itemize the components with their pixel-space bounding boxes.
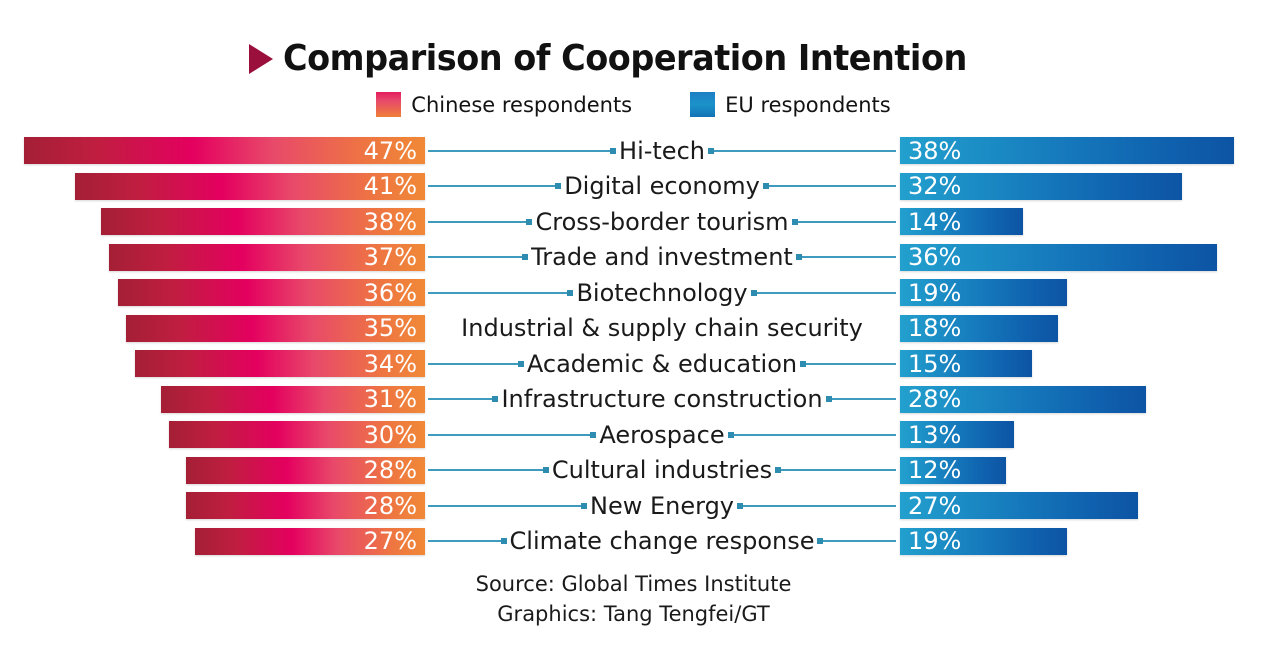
connector-line-left bbox=[428, 256, 528, 258]
chart-legend: Chinese respondents EU respondents bbox=[0, 92, 1267, 117]
bar-value-label-eu: 36% bbox=[908, 245, 961, 269]
bar-value-label-chinese: 41% bbox=[364, 174, 417, 198]
bar-eu-respondents: 18% bbox=[900, 315, 1058, 342]
connector-line-left bbox=[428, 434, 596, 436]
bar-value-label-eu: 14% bbox=[908, 210, 961, 234]
chart-row: 31%Infrastructure construction28% bbox=[0, 382, 1267, 418]
connector-line-right bbox=[817, 540, 896, 542]
connector-line-right bbox=[826, 398, 896, 400]
bar-value-label-chinese: 34% bbox=[364, 352, 417, 376]
connector-line-right bbox=[751, 292, 896, 294]
bar-value-label-eu: 13% bbox=[908, 423, 961, 447]
category-band: Trade and investment bbox=[428, 240, 896, 276]
bar-chinese-respondents: 37% bbox=[109, 244, 425, 271]
connector-line-left bbox=[428, 505, 587, 507]
bar-eu-respondents: 14% bbox=[900, 208, 1023, 235]
category-label: Hi-tech bbox=[616, 139, 708, 163]
bar-chinese-respondents: 34% bbox=[135, 350, 425, 377]
bar-chinese-respondents: 36% bbox=[118, 279, 425, 306]
chart-row: 37%Trade and investment36% bbox=[0, 240, 1267, 276]
category-band: Industrial & supply chain security bbox=[428, 311, 896, 347]
bar-value-label-chinese: 38% bbox=[364, 210, 417, 234]
bar-eu-respondents: 15% bbox=[900, 350, 1032, 377]
bar-eu-respondents: 19% bbox=[900, 279, 1067, 306]
connector-line-right bbox=[708, 150, 896, 152]
bar-chinese-respondents: 28% bbox=[186, 457, 425, 484]
bar-value-label-eu: 32% bbox=[908, 174, 961, 198]
bar-value-label-chinese: 36% bbox=[364, 281, 417, 305]
connector-line-right bbox=[728, 434, 896, 436]
connector-line-right bbox=[775, 469, 896, 471]
category-label: Biotechnology bbox=[573, 281, 750, 305]
bar-chinese-respondents: 35% bbox=[126, 315, 425, 342]
graphics-credit: Graphics: Tang Tengfei/GT bbox=[0, 599, 1267, 629]
bar-eu-respondents: 27% bbox=[900, 492, 1138, 519]
category-band: Biotechnology bbox=[428, 275, 896, 311]
connector-line-left bbox=[428, 398, 498, 400]
connector-line-left bbox=[428, 469, 549, 471]
infographic-canvas: Comparison of Cooperation Intention Chin… bbox=[0, 0, 1267, 662]
category-band: Hi-tech bbox=[428, 133, 896, 169]
bar-value-label-chinese: 35% bbox=[364, 316, 417, 340]
chart-row: 28%Cultural industries12% bbox=[0, 453, 1267, 489]
bar-value-label-chinese: 31% bbox=[364, 387, 417, 411]
chart-row: 35%Industrial & supply chain security18% bbox=[0, 311, 1267, 347]
bar-eu-respondents: 28% bbox=[900, 386, 1146, 413]
connector-line-left bbox=[428, 540, 507, 542]
chart-row: 34%Academic & education15% bbox=[0, 346, 1267, 382]
source-credit: Source: Global Times Institute bbox=[0, 569, 1267, 599]
page-title: Comparison of Cooperation Intention bbox=[283, 38, 967, 79]
bar-chinese-respondents: 30% bbox=[169, 421, 425, 448]
legend-label-chinese: Chinese respondents bbox=[411, 93, 632, 117]
category-label: Industrial & supply chain security bbox=[458, 316, 866, 340]
bar-eu-respondents: 36% bbox=[900, 244, 1217, 271]
bar-value-label-eu: 15% bbox=[908, 352, 961, 376]
connector-line-right bbox=[796, 256, 896, 258]
bar-chinese-respondents: 28% bbox=[186, 492, 425, 519]
legend-swatch-chinese bbox=[376, 92, 401, 117]
bar-eu-respondents: 19% bbox=[900, 528, 1067, 555]
connector-line-left bbox=[428, 292, 573, 294]
bar-value-label-eu: 38% bbox=[908, 139, 961, 163]
category-band: Cross-border tourism bbox=[428, 204, 896, 240]
bar-value-label-eu: 19% bbox=[908, 281, 961, 305]
chart-footer: Source: Global Times Institute Graphics:… bbox=[0, 569, 1267, 630]
chart-row: 41%Digital economy32% bbox=[0, 169, 1267, 205]
connector-line-left bbox=[428, 363, 524, 365]
bar-value-label-chinese: 27% bbox=[364, 529, 417, 553]
connector-line-left bbox=[428, 221, 532, 223]
category-band: Digital economy bbox=[428, 169, 896, 205]
bar-value-label-eu: 12% bbox=[908, 458, 961, 482]
legend-swatch-eu bbox=[690, 92, 715, 117]
bar-chinese-respondents: 41% bbox=[75, 173, 425, 200]
category-label: Cultural industries bbox=[549, 458, 775, 482]
bar-value-label-eu: 19% bbox=[908, 529, 961, 553]
legend-item-chinese-respondents: Chinese respondents bbox=[376, 92, 632, 117]
connector-line-right bbox=[763, 185, 896, 187]
bar-chinese-respondents: 31% bbox=[161, 386, 425, 413]
bar-value-label-chinese: 30% bbox=[364, 423, 417, 447]
chart-row: 30%Aerospace13% bbox=[0, 417, 1267, 453]
connector-line-left bbox=[428, 150, 616, 152]
connector-line-right bbox=[737, 505, 896, 507]
category-label: New Energy bbox=[587, 494, 737, 518]
category-label: Academic & education bbox=[524, 352, 800, 376]
legend-item-eu-respondents: EU respondents bbox=[690, 92, 891, 117]
category-label: Digital economy bbox=[561, 174, 763, 198]
category-label: Aerospace bbox=[596, 423, 727, 447]
category-band: New Energy bbox=[428, 488, 896, 524]
bar-value-label-eu: 18% bbox=[908, 316, 961, 340]
bar-eu-respondents: 32% bbox=[900, 173, 1182, 200]
category-band: Academic & education bbox=[428, 346, 896, 382]
bar-chinese-respondents: 27% bbox=[195, 528, 425, 555]
chart-row: 28%New Energy27% bbox=[0, 488, 1267, 524]
chart-rows: 47%Hi-tech38%41%Digital economy32%38%Cro… bbox=[0, 133, 1267, 559]
category-band: Infrastructure construction bbox=[428, 382, 896, 418]
connector-line-left bbox=[428, 185, 561, 187]
connector-line-right bbox=[792, 221, 896, 223]
triangle-right-icon bbox=[249, 44, 273, 74]
connector-line-right bbox=[800, 363, 896, 365]
chart-title-row: Comparison of Cooperation Intention bbox=[0, 38, 1267, 79]
bar-eu-respondents: 38% bbox=[900, 137, 1234, 164]
chart-row: 47%Hi-tech38% bbox=[0, 133, 1267, 169]
category-label: Infrastructure construction bbox=[498, 387, 825, 411]
bar-value-label-eu: 27% bbox=[908, 494, 961, 518]
bar-value-label-chinese: 28% bbox=[364, 494, 417, 518]
category-band: Cultural industries bbox=[428, 453, 896, 489]
legend-label-eu: EU respondents bbox=[725, 93, 891, 117]
chart-row: 27%Climate change response19% bbox=[0, 524, 1267, 560]
chart-row: 38%Cross-border tourism14% bbox=[0, 204, 1267, 240]
bar-value-label-eu: 28% bbox=[908, 387, 961, 411]
bar-value-label-chinese: 28% bbox=[364, 458, 417, 482]
bar-eu-respondents: 13% bbox=[900, 421, 1014, 448]
category-band: Aerospace bbox=[428, 417, 896, 453]
bar-value-label-chinese: 37% bbox=[364, 245, 417, 269]
category-band: Climate change response bbox=[428, 524, 896, 560]
bar-eu-respondents: 12% bbox=[900, 457, 1006, 484]
category-label: Trade and investment bbox=[528, 245, 796, 269]
bar-value-label-chinese: 47% bbox=[364, 139, 417, 163]
chart-row: 36%Biotechnology19% bbox=[0, 275, 1267, 311]
category-label: Cross-border tourism bbox=[532, 210, 791, 234]
category-label: Climate change response bbox=[507, 529, 818, 553]
bar-chinese-respondents: 47% bbox=[24, 137, 425, 164]
bar-chinese-respondents: 38% bbox=[101, 208, 425, 235]
